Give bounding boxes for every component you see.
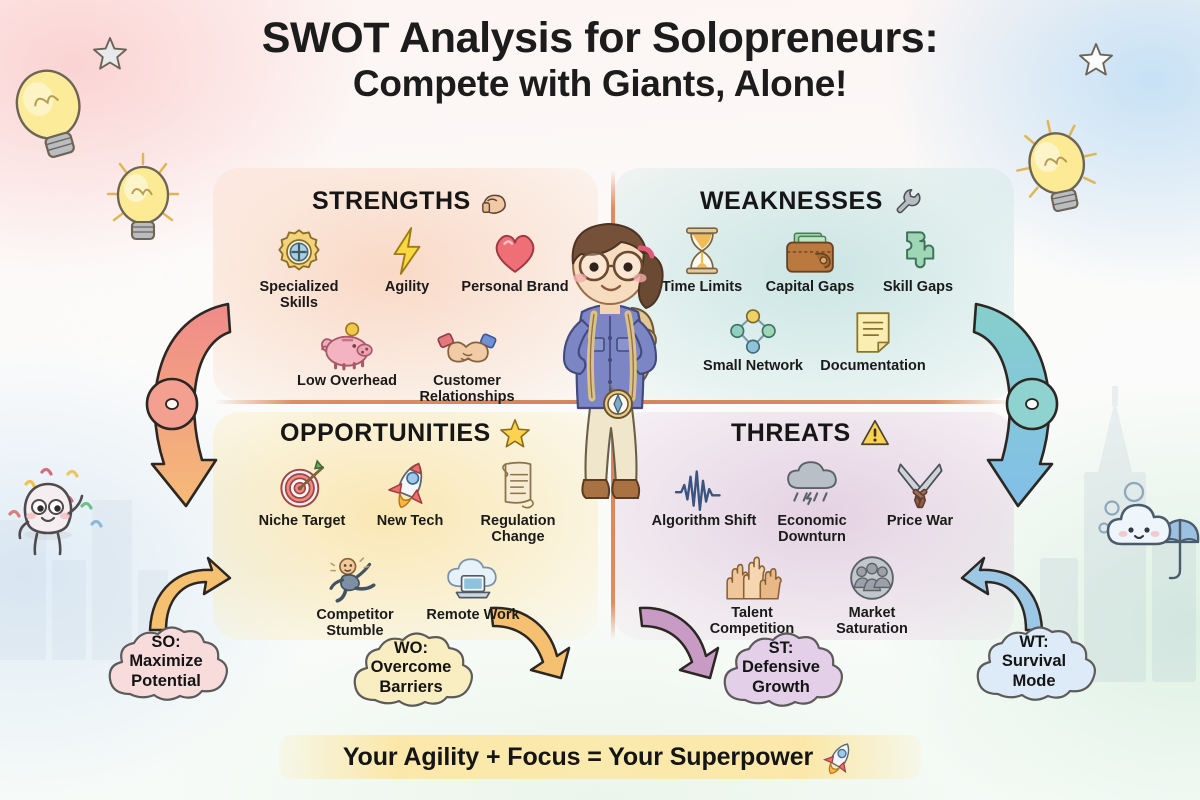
- heart-icon: [491, 222, 539, 276]
- item-documentation: Documentation: [812, 301, 934, 374]
- page-title: SWOT Analysis for Solopreneurs: Compete …: [0, 16, 1200, 105]
- scroll-icon: [496, 456, 540, 510]
- cloud-line-2: Growth: [742, 678, 820, 697]
- network-nodes-icon: [728, 301, 778, 355]
- heading-label: STRENGTHS: [312, 187, 471, 216]
- item-skill-gaps: Skill Gaps: [864, 222, 972, 295]
- heading-opportunities: OPPORTUNITIES: [280, 418, 530, 448]
- items-opportunities: Niche Target New Tech: [248, 456, 572, 640]
- lightning-bolt-icon: [385, 222, 429, 276]
- item-economic-downturn: Economic Downturn: [758, 456, 866, 546]
- cloud-line-2: Mode: [1002, 672, 1066, 691]
- cloud-text: SO: Maximize Potential: [129, 633, 202, 690]
- star-icon: [500, 418, 530, 448]
- item-label: Small Network: [703, 358, 803, 374]
- strategy-cloud-so: SO: Maximize Potential: [100, 614, 232, 710]
- title-line-2: Compete with Giants, Alone!: [0, 63, 1200, 106]
- hourglass-icon: [681, 222, 723, 276]
- strategy-cloud-st: ST: Defensive Growth: [715, 620, 847, 716]
- cloud-line-2: Potential: [129, 672, 202, 691]
- waveform-icon: [675, 456, 733, 510]
- raised-hands-icon: [723, 548, 781, 602]
- item-label: Agility: [385, 279, 429, 295]
- crowd-circle-icon: [847, 548, 897, 602]
- flexed-biceps-icon: [480, 186, 510, 216]
- item-agility: Agility: [353, 222, 461, 312]
- banner-text: Your Agility + Focus = Your Superpower: [343, 743, 813, 772]
- cloud-text: ST: Defensive Growth: [742, 639, 820, 696]
- items-weaknesses: Time Limits Capital Gaps: [648, 222, 972, 375]
- rocket-icon: [823, 740, 857, 774]
- cloud-line-1: Survival: [1002, 652, 1066, 671]
- item-label: New Tech: [377, 513, 444, 529]
- item-new-tech: New Tech: [356, 456, 464, 546]
- warning-triangle-icon: [860, 418, 890, 448]
- item-label: Economic Downturn: [758, 513, 866, 546]
- heading-label: OPPORTUNITIES: [280, 419, 491, 448]
- title-line-1: SWOT Analysis for Solopreneurs:: [0, 16, 1200, 61]
- infographic-canvas: SWOT Analysis for Solopreneurs: Compete …: [0, 0, 1200, 800]
- crossed-swords-icon: [894, 456, 946, 510]
- item-label: Documentation: [820, 358, 926, 374]
- solopreneur-character: [540, 212, 682, 530]
- item-customer-relationships: Customer Relationships: [407, 316, 527, 406]
- rain-cloud-icon: [785, 456, 839, 510]
- cloud-code: WT:: [1002, 633, 1066, 652]
- cloud-line-1: Maximize: [129, 652, 202, 671]
- lightbulb-icon: [1013, 118, 1105, 232]
- item-label: Specialized Skills: [245, 279, 353, 312]
- items-threats: Algorithm Shift Economic Downturn: [650, 456, 974, 638]
- medal-badge-icon: [275, 222, 323, 276]
- umbrella-cloud-icon: [1092, 478, 1200, 604]
- strategy-cloud-wt: WT: Survival Mode: [968, 614, 1100, 710]
- item-low-overhead: Low Overhead: [287, 316, 407, 406]
- cloud-line-1: Overcome: [371, 658, 452, 677]
- cloud-text: WT: Survival Mode: [1002, 633, 1066, 690]
- item-price-war: Price War: [866, 456, 974, 546]
- cloud-line-1: Defensive: [742, 658, 820, 677]
- item-label: Capital Gaps: [766, 279, 855, 295]
- strategy-cloud-wo: WO: Overcome Barriers: [345, 620, 477, 716]
- cloud-line-2: Barriers: [371, 678, 452, 697]
- item-label: Customer Relationships: [407, 373, 527, 406]
- cloud-laptop-icon: [445, 550, 501, 604]
- item-label: Low Overhead: [297, 373, 397, 389]
- wallet-icon: [784, 222, 836, 276]
- item-capital-gaps: Capital Gaps: [756, 222, 864, 295]
- bottom-banner: Your Agility + Focus = Your Superpower: [279, 735, 921, 779]
- cloud-code: WO:: [371, 639, 452, 658]
- heading-threats: THREATS: [731, 418, 890, 448]
- piggy-bank-icon: [319, 316, 375, 370]
- cloud-text: WO: Overcome Barriers: [371, 639, 452, 696]
- document-note-icon: [850, 301, 896, 355]
- heading-label: THREATS: [731, 419, 851, 448]
- handshake-icon: [438, 316, 496, 370]
- heading-weaknesses: WEAKNESSES: [700, 186, 922, 216]
- heading-strengths: STRENGTHS: [312, 186, 510, 216]
- wrench-icon: [892, 186, 922, 216]
- celebrating-blob-icon: [6, 462, 138, 598]
- item-label: Price War: [887, 513, 953, 529]
- items-strengths: Specialized Skills Agility Personal B: [245, 222, 569, 406]
- item-label: Skill Gaps: [883, 279, 953, 295]
- lightbulb-icon: [100, 150, 186, 258]
- item-niche-target: Niche Target: [248, 456, 356, 546]
- rocket-icon: [386, 456, 434, 510]
- item-specialized-skills: Specialized Skills: [245, 222, 353, 312]
- item-small-network: Small Network: [694, 301, 812, 374]
- cloud-code: ST:: [742, 639, 820, 658]
- item-label: Niche Target: [259, 513, 346, 529]
- puzzle-piece-icon: [894, 222, 942, 276]
- dartboard-icon: [277, 456, 327, 510]
- cloud-code: SO:: [129, 633, 202, 652]
- heading-label: WEAKNESSES: [700, 187, 883, 216]
- falling-person-icon: [329, 550, 381, 604]
